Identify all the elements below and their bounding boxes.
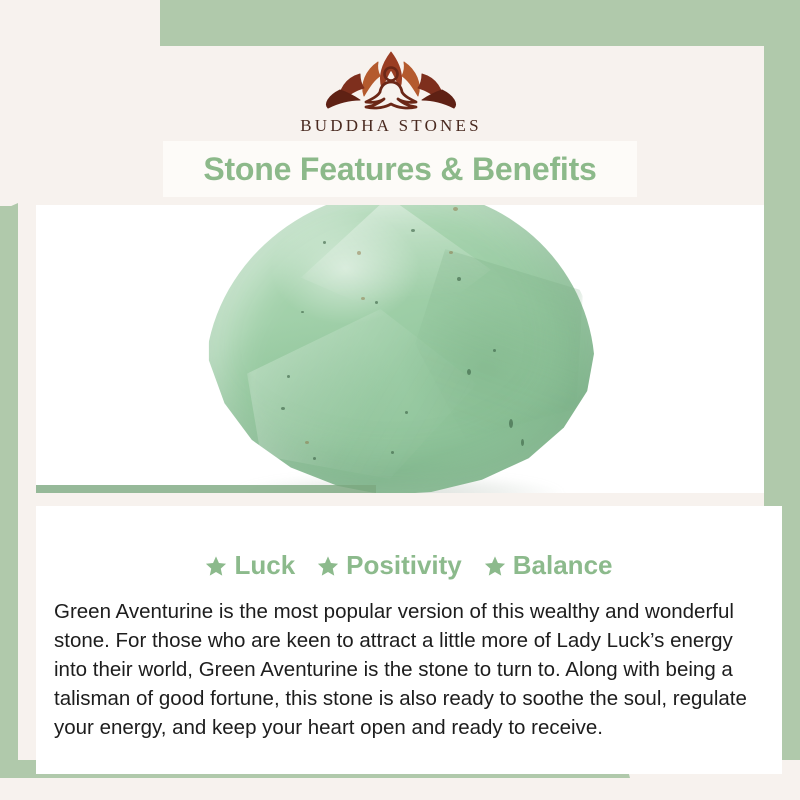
brand-name: BUDDHA STONES — [300, 116, 482, 136]
stone-fleck — [305, 441, 309, 444]
benefit-item: Positivity — [317, 550, 462, 581]
benefit-item: Luck — [205, 550, 295, 581]
stone-speck — [411, 229, 415, 232]
description-panel: Luck Positivity Balance Green Aventurine… — [36, 506, 782, 774]
poster-canvas: BUDDHA STONES Stone Features & Benefits — [0, 0, 800, 800]
star-icon — [317, 555, 339, 577]
page-title: Stone Features & Benefits — [203, 151, 596, 188]
stone-speck — [391, 451, 394, 454]
stone-speck — [323, 241, 326, 244]
benefit-label: Positivity — [346, 550, 462, 581]
product-name-bar: Green Aventurine — [36, 485, 376, 493]
stone-body — [205, 205, 595, 493]
stone-speck — [313, 457, 316, 460]
product-name-label: Green Aventurine — [62, 492, 265, 493]
benefit-item: Balance — [484, 550, 613, 581]
stone-speck — [493, 349, 496, 352]
stone-speck — [467, 369, 471, 375]
lotus-meditation-icon — [316, 46, 466, 120]
title-banner: Stone Features & Benefits — [163, 141, 637, 197]
stone-speck — [375, 301, 378, 304]
product-image-panel: Green Aventurine — [36, 205, 764, 493]
benefit-label: Balance — [513, 550, 613, 581]
stone-photo — [205, 205, 595, 493]
stone-speck — [301, 311, 304, 313]
benefits-list: Luck Positivity Balance — [36, 506, 782, 581]
stone-fleck — [357, 251, 361, 255]
stone-speck — [521, 439, 524, 446]
description-text: Green Aventurine is the most popular ver… — [54, 597, 764, 743]
stone-speck — [509, 419, 513, 428]
stone-speck — [457, 277, 461, 281]
benefit-label: Luck — [234, 550, 295, 581]
content-card: BUDDHA STONES Stone Features & Benefits — [18, 46, 764, 760]
stone-fleck — [361, 297, 365, 300]
stone-speck — [405, 411, 408, 414]
stone-fleck — [449, 251, 453, 254]
frame-accent-top — [160, 0, 800, 46]
stone-fleck — [453, 207, 458, 211]
brand-header: BUDDHA STONES — [18, 46, 764, 142]
stone-speck — [287, 375, 290, 378]
stone-speck — [281, 407, 285, 410]
star-icon — [484, 555, 506, 577]
star-icon — [205, 555, 227, 577]
